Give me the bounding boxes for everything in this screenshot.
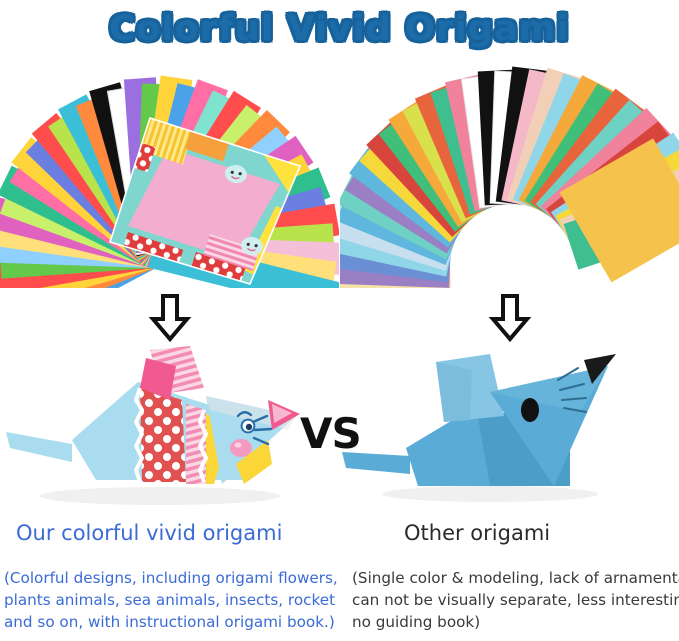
page-title: Colorful Vivid Origami xyxy=(0,4,679,54)
caption-other-origami: Other origami xyxy=(404,521,550,545)
colorful-origami-mouse xyxy=(0,344,339,511)
patterned-origami-paper-fan xyxy=(0,56,339,288)
description-line: (Single color & modeling, lack of arname… xyxy=(352,567,679,589)
panel-other-origami xyxy=(340,56,679,511)
fan-sheets-layer xyxy=(0,75,339,288)
caption-our-origami: Our colorful vivid origami xyxy=(16,521,282,545)
infographic-root: Colorful Vivid Origami xyxy=(0,0,679,641)
description-line: can not be visually separate, less inter… xyxy=(352,589,679,611)
description-line: and so on, with instructional origami bo… xyxy=(4,611,334,633)
panel-our-origami xyxy=(0,56,339,511)
down-arrow-outline-icon xyxy=(148,293,192,343)
description-other-origami: (Single color & modeling, lack of arname… xyxy=(352,567,679,633)
down-arrow-right xyxy=(340,288,679,348)
solid-color-origami-paper-arch xyxy=(340,56,679,288)
description-line: no guiding book) xyxy=(352,611,679,633)
description-line: plants animals, sea animals, insects, ro… xyxy=(4,589,334,611)
plain-blue-origami-mouse xyxy=(340,344,679,511)
down-arrow-left xyxy=(0,288,339,348)
page-title-text: Colorful Vivid Origami xyxy=(109,9,569,49)
description-line: (Colorful designs, including origami flo… xyxy=(4,567,334,589)
down-arrow-outline-icon xyxy=(488,293,532,343)
vs-label: VS xyxy=(300,409,361,458)
description-our-origami: (Colorful designs, including origami flo… xyxy=(4,567,334,633)
